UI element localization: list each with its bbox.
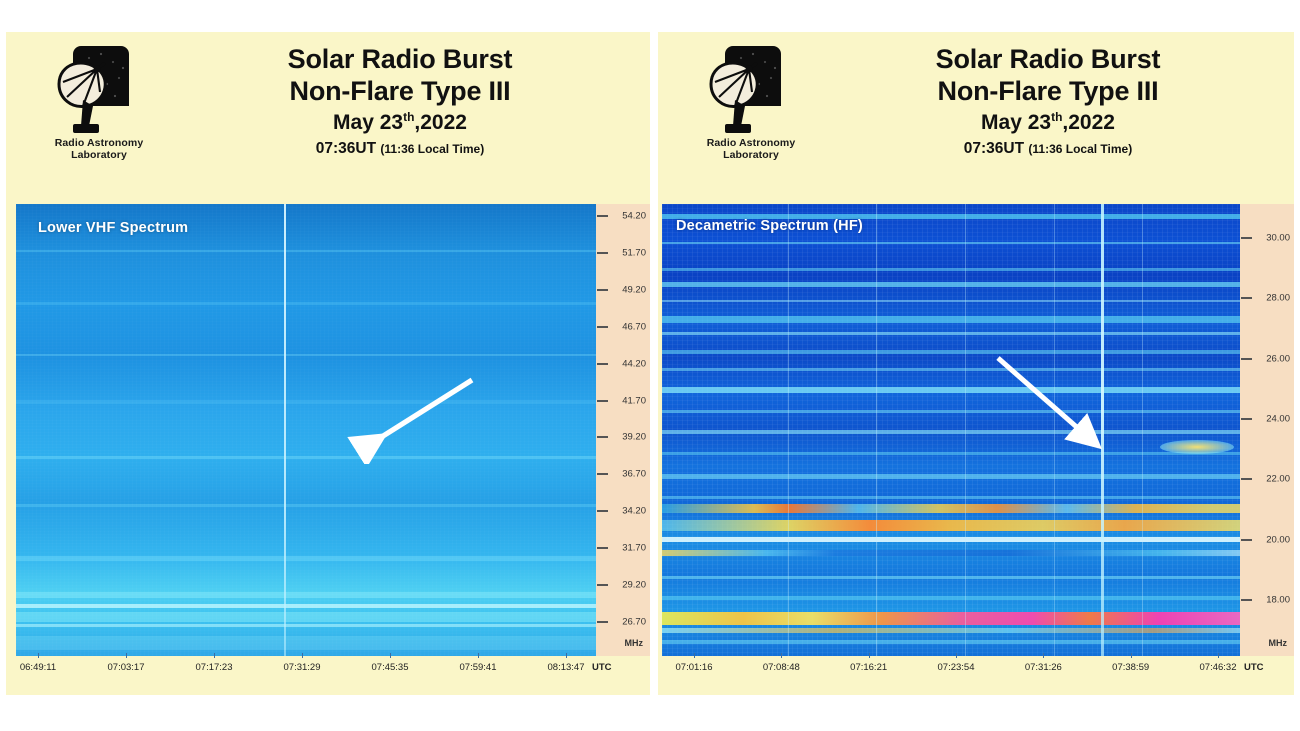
y-tick-left-10 (597, 584, 608, 586)
right-band-13 (662, 452, 1240, 455)
title-date-year: ,2022 (414, 111, 467, 134)
x-tick-label-right-0: 07:01:16 (676, 662, 713, 673)
logo-caption: Radio Astronomy Laboratory (686, 138, 816, 161)
y-tick-label-left-4: 44.20 (622, 358, 646, 369)
logo-block-right: Radio Astronomy Laboratory (686, 40, 816, 161)
y-axis-left: 54.2051.7049.2046.7044.2041.7039.2036.70… (596, 204, 650, 656)
y-tick-left-11 (597, 621, 608, 623)
title-time-ut: 07:36UT (316, 140, 376, 157)
x-axis-left: 06:49:1107:03:1707:17:2307:31:2907:45:35… (6, 656, 650, 695)
title-date: May 23th,2022 (156, 109, 644, 137)
logo-caption-line1: Radio Astronomy (686, 138, 816, 150)
title-date-text: May 23 (333, 111, 403, 134)
x-tick-label-left-2: 07:17:23 (196, 662, 233, 673)
logo-caption-line2: Laboratory (686, 150, 816, 162)
right-vline-2 (876, 204, 877, 656)
y-tick-label-left-7: 36.70 (622, 469, 646, 480)
right-vline-5 (1142, 204, 1143, 656)
title-date-text: May 23 (981, 111, 1051, 134)
x-tick-left-3 (302, 653, 303, 658)
title-block-right: Solar Radio Burst Non-Flare Type III May… (808, 44, 1288, 159)
y-tick-label-right-5: 20.00 (1266, 534, 1290, 545)
x-tick-left-6 (566, 653, 567, 658)
x-tick-label-right-5: 07:38:59 (1112, 662, 1149, 673)
right-rfi-band-21mhz (662, 504, 1240, 513)
header-left: Radio Astronomy Laboratory Solar Radio B… (6, 32, 650, 202)
y-tick-right-2 (1241, 358, 1252, 360)
logo-caption: Radio Astronomy Laboratory (34, 138, 164, 161)
x-tick-label-right-3: 07:23:54 (938, 662, 975, 673)
y-tick-right-0 (1241, 237, 1252, 239)
title-block-left: Solar Radio Burst Non-Flare Type III May… (156, 44, 644, 159)
title-date-sup: th (1051, 110, 1062, 124)
x-tick-label-left-5: 07:59:41 (460, 662, 497, 673)
right-band-17 (662, 576, 1240, 579)
y-tick-label-left-8: 34.20 (622, 506, 646, 517)
y-tick-right-6 (1241, 599, 1252, 601)
title-line2: Non-Flare Type III (156, 76, 644, 108)
title-line1: Solar Radio Burst (808, 44, 1288, 76)
y-tick-label-right-1: 28.00 (1266, 293, 1290, 304)
right-bright-blob-24mhz (1160, 440, 1234, 454)
radio-telescope-dish-logo (705, 40, 797, 136)
panel-left-inline-label: Lower VHF Spectrum (38, 220, 188, 236)
right-rfi-band-18mhz (662, 612, 1240, 625)
right-band-10 (662, 387, 1240, 393)
y-tick-label-left-9: 31.70 (622, 543, 646, 554)
right-band-15 (662, 496, 1240, 499)
logo-caption-line2: Laboratory (34, 150, 164, 162)
x-tick-label-right-1: 07:08:48 (763, 662, 800, 673)
title-date-sup: th (403, 110, 414, 124)
x-tick-left-1 (126, 653, 127, 658)
x-tick-right-1 (781, 653, 782, 658)
title-time: 07:36UT (11:36 Local Time) (156, 139, 644, 159)
y-tick-left-0 (597, 215, 608, 217)
header-right: Radio Astronomy Laboratory Solar Radio B… (658, 32, 1294, 202)
right-band-6 (662, 316, 1240, 323)
right-vline-3 (965, 204, 966, 656)
y-tick-left-9 (597, 547, 608, 549)
title-time-local: (11:36 Local Time) (1028, 142, 1132, 156)
y-tick-left-8 (597, 510, 608, 512)
right-band-2 (662, 242, 1240, 244)
x-tick-label-left-1: 07:03:17 (108, 662, 145, 673)
x-axis-unit-left: UTC (592, 662, 612, 673)
y-tick-label-right-4: 22.00 (1266, 474, 1290, 485)
x-tick-left-2 (214, 653, 215, 658)
title-time-local: (11:36 Local Time) (380, 142, 484, 156)
title-line2: Non-Flare Type III (808, 76, 1288, 108)
x-axis-unit-right: UTC (1244, 662, 1264, 673)
y-tick-left-1 (597, 252, 608, 254)
x-tick-label-left-4: 07:45:35 (372, 662, 409, 673)
y-tick-right-1 (1241, 297, 1252, 299)
y-tick-left-4 (597, 363, 608, 365)
screenshot-root: Radio Astronomy Laboratory Solar Radio B… (0, 0, 1300, 731)
right-band-4 (662, 282, 1240, 287)
y-tick-label-right-3: 24.00 (1266, 414, 1290, 425)
x-tick-left-0 (38, 653, 39, 658)
y-tick-left-2 (597, 289, 608, 291)
spectrogram-left-vhf[interactable]: Lower VHF Spectrum (16, 204, 596, 656)
right-band-11 (662, 410, 1240, 413)
right-band-20 (662, 640, 1240, 644)
y-tick-label-left-5: 41.70 (622, 395, 646, 406)
right-band-7 (662, 332, 1240, 335)
title-date-year: ,2022 (1062, 111, 1115, 134)
right-band-12 (662, 430, 1240, 434)
panel-right-hf: Radio Astronomy Laboratory Solar Radio B… (658, 32, 1294, 695)
logo-caption-line1: Radio Astronomy (34, 138, 164, 150)
right-type-iii-burst-streak (1101, 204, 1104, 656)
y-tick-label-right-0: 30.00 (1266, 233, 1290, 244)
title-time-ut: 07:36UT (964, 140, 1024, 157)
y-tick-left-5 (597, 400, 608, 402)
logo-block-left: Radio Astronomy Laboratory (34, 40, 164, 161)
y-tick-right-4 (1241, 478, 1252, 480)
right-band-14 (662, 474, 1240, 479)
y-tick-label-right-2: 26.00 (1266, 353, 1290, 364)
right-band-16 (662, 550, 1240, 556)
panel-right-inline-label: Decametric Spectrum (HF) (676, 218, 863, 234)
y-tick-label-left-0: 54.20 (622, 211, 646, 222)
right-vline-4 (1054, 204, 1055, 656)
title-date: May 23th,2022 (808, 109, 1288, 137)
right-band-3 (662, 268, 1240, 271)
right-band-8 (662, 350, 1240, 354)
spectrogram-right-hf[interactable]: Decametric Spectrum (HF) (662, 204, 1240, 656)
right-band-bright-20 (662, 537, 1240, 542)
left-type-iii-burst-streak (284, 204, 286, 656)
x-tick-left-4 (390, 653, 391, 658)
x-tick-label-left-3: 07:31:29 (284, 662, 321, 673)
y-tick-right-5 (1241, 539, 1252, 541)
x-tick-label-left-0: 06:49:11 (20, 662, 56, 673)
x-tick-right-4 (1043, 653, 1044, 658)
panel-left-vhf: Radio Astronomy Laboratory Solar Radio B… (6, 32, 650, 695)
y-tick-label-left-1: 51.70 (622, 247, 646, 258)
y-tick-label-left-10: 29.20 (622, 580, 646, 591)
x-tick-left-5 (478, 653, 479, 658)
y-tick-left-7 (597, 473, 608, 475)
y-tick-left-3 (597, 326, 608, 328)
y-tick-label-left-11: 26.70 (622, 617, 646, 628)
x-tick-right-6 (1218, 653, 1219, 658)
x-tick-label-right-6: 07:46:32 (1200, 662, 1237, 673)
y-tick-label-right-6: 18.00 (1266, 595, 1290, 606)
right-vline-1 (788, 204, 789, 656)
y-tick-left-6 (597, 436, 608, 438)
x-axis-right: 07:01:1607:08:4807:16:2107:23:5407:31:26… (658, 656, 1294, 695)
x-tick-right-0 (694, 653, 695, 658)
x-tick-right-2 (869, 653, 870, 658)
right-band-5 (662, 300, 1240, 302)
x-tick-right-3 (956, 653, 957, 658)
right-band-18 (662, 596, 1240, 600)
x-tick-right-5 (1131, 653, 1132, 658)
y-tick-label-left-6: 39.20 (622, 432, 646, 443)
y-axis-unit-left: MHz (625, 638, 644, 648)
right-rfi-band-20mhz (662, 520, 1240, 531)
y-axis-right: 30.0028.0026.0024.0022.0020.0018.00MHz (1240, 204, 1294, 656)
radio-telescope-dish-logo (53, 40, 145, 136)
right-band-9 (662, 368, 1240, 371)
x-tick-label-right-4: 07:31:26 (1025, 662, 1062, 673)
y-tick-label-left-3: 46.70 (622, 321, 646, 332)
x-tick-label-left-6: 08:13:47 (548, 662, 585, 673)
right-band-19 (662, 628, 1240, 633)
left-noise-texture (16, 204, 596, 656)
title-time: 07:36UT (11:36 Local Time) (808, 139, 1288, 159)
x-tick-label-right-2: 07:16:21 (850, 662, 887, 673)
y-tick-label-left-2: 49.20 (622, 284, 646, 295)
y-tick-right-3 (1241, 418, 1252, 420)
title-line1: Solar Radio Burst (156, 44, 644, 76)
y-axis-unit-right: MHz (1269, 638, 1288, 648)
